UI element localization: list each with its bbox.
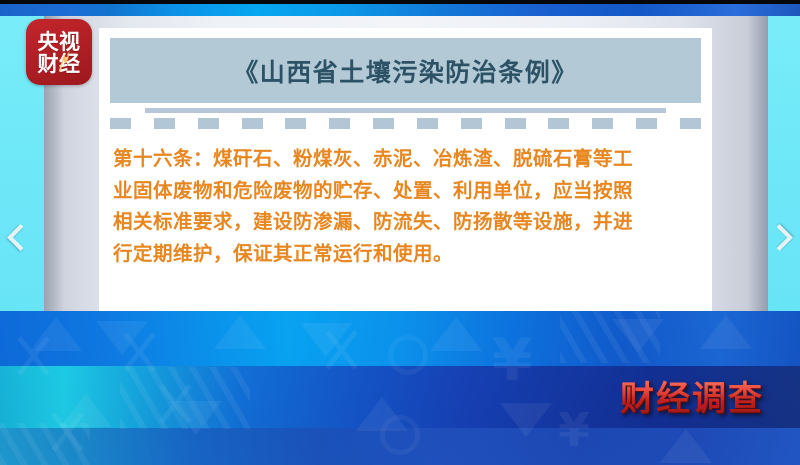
cross-shape <box>318 327 364 373</box>
logo-line-2-text: 财经 <box>38 52 81 76</box>
separator-square <box>198 118 219 129</box>
broadcast-frame: ¥ ¥ 《山西省土壤污染防治条例》 <box>0 0 800 465</box>
triangle-shape <box>700 315 752 349</box>
yen-symbol-icon: ¥ <box>558 407 590 453</box>
stripe-pattern <box>560 311 660 363</box>
body-line: 相关标准要求，建设防渗漏、防流失、防扬散等设施，并进 <box>113 206 698 238</box>
regulation-body-text: 第十六条：煤矸石、粉煤灰、赤泥、冶炼渣、脱硫石膏等工 业固体废物和危险废物的贮存… <box>110 143 701 269</box>
separator-square <box>636 118 657 129</box>
yen-symbol-icon: ¥ <box>492 331 532 389</box>
cross-shape <box>10 333 56 379</box>
triangle-shape <box>214 315 266 349</box>
cctv-finance-logo: 央视 财经 <box>26 19 92 85</box>
title-underline-bar <box>145 108 665 113</box>
body-line: 业固体废物和危险废物的贮存、处置、利用单位，应当按照 <box>113 175 698 207</box>
separator-square <box>285 118 306 129</box>
program-logo: 财经调查 <box>620 371 764 420</box>
separator-square <box>461 118 482 129</box>
dashed-separator <box>110 118 701 129</box>
separator-square <box>110 118 131 129</box>
triangle-shape <box>430 317 482 351</box>
separator-square <box>505 118 526 129</box>
backing-panel-right-shadow <box>748 16 768 311</box>
separator-square <box>329 118 350 129</box>
separator-square <box>592 118 613 129</box>
logo-line-2: 财经 <box>38 53 81 75</box>
circle-shape <box>380 415 420 455</box>
triangle-shape <box>500 403 552 437</box>
stripe-pattern <box>0 423 90 465</box>
body-line: 行定期维护，保证其正常运行和使用。 <box>113 238 698 270</box>
logo-line-1: 央视 <box>38 31 81 53</box>
card-title-band: 《山西省土壤污染防治条例》 <box>110 38 701 103</box>
body-line: 第十六条：煤矸石、粉煤灰、赤泥、冶炼渣、脱硫石膏等工 <box>113 143 698 175</box>
top-blue-band <box>0 4 800 16</box>
page-title: 《山西省土壤污染防治条例》 <box>233 53 578 89</box>
circle-shape <box>388 335 428 375</box>
separator-square <box>242 118 263 129</box>
triangle-shape <box>660 429 712 463</box>
separator-square <box>417 118 438 129</box>
separator-square <box>154 118 175 129</box>
regulation-card: 《山西省土壤污染防治条例》 第十六条：煤矸石、粉煤灰、赤泥、冶炼渣、脱硫石膏等工… <box>99 28 712 311</box>
separator-square <box>548 118 569 129</box>
separator-square <box>680 118 701 129</box>
separator-square <box>373 118 394 129</box>
top-letterbox-bar <box>0 0 800 4</box>
stripe-pattern <box>120 367 250 429</box>
